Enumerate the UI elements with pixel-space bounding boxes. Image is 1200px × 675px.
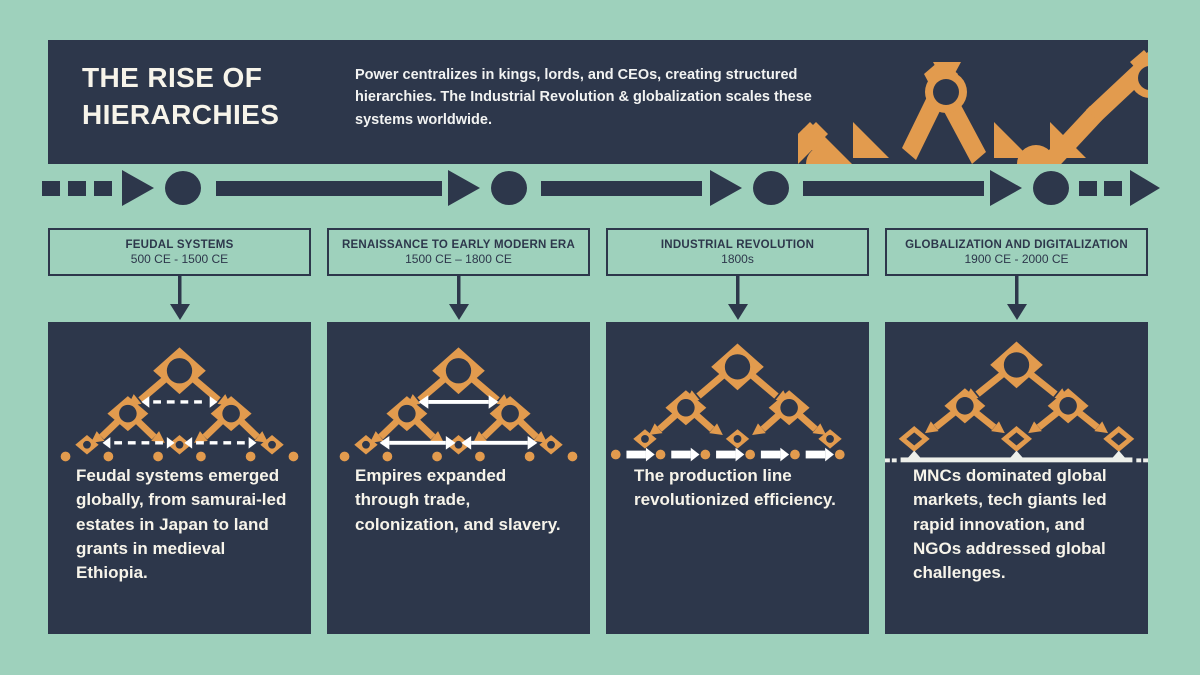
era-card-description: The production line revolutionized effic… [634, 464, 847, 513]
era-card-industrial-revolution[interactable]: The production line revolutionized effic… [606, 322, 869, 634]
page-title-line-2: HIERARCHIES [82, 97, 362, 134]
era-card-renaissance-to-early-modern-era[interactable]: Empires expanded through trade, coloniza… [327, 322, 590, 634]
progress-arrow-strip [40, 168, 1160, 208]
era-name: INDUSTRIAL REVOLUTION [661, 238, 814, 252]
header-banner: THE RISE OF HIERARCHIES Power centralize… [48, 40, 1148, 164]
era-box-feudal-systems[interactable]: FEUDAL SYSTEMS 500 CE - 1500 CE [48, 228, 311, 276]
era-card-description: Empires expanded through trade, coloniza… [355, 464, 568, 537]
hierarchy-tree-dashed-arrows-icon [48, 334, 311, 464]
page-title: THE RISE OF HIERARCHIES [82, 60, 362, 134]
era-name: FEUDAL SYSTEMS [125, 238, 233, 252]
connector-cell-1 [48, 276, 311, 322]
connector-cell-4 [885, 276, 1148, 322]
infographic-canvas: THE RISE OF HIERARCHIES Power centralize… [0, 0, 1200, 675]
era-box-globalization-and-digitalization[interactable]: GLOBALIZATION AND DIGITALIZATION 1900 CE… [885, 228, 1148, 276]
hierarchy-tree-network-baseline-icon [885, 334, 1148, 464]
down-arrow-icon [1004, 276, 1030, 322]
era-box-industrial-revolution[interactable]: INDUSTRIAL REVOLUTION 1800s [606, 228, 869, 276]
era-card-globalization-and-digitalization[interactable]: MNCs dominated global markets, tech gian… [885, 322, 1148, 634]
hierarchy-tree-solid-arrows-icon [327, 334, 590, 464]
era-range: 1500 CE – 1800 CE [405, 252, 512, 268]
down-arrow-icon [725, 276, 751, 322]
era-card-row: Feudal systems emerged globally, from sa… [48, 322, 1148, 634]
hierarchy-tree-production-line-icon [606, 334, 869, 464]
era-range: 1800s [721, 252, 754, 268]
connector-cell-2 [327, 276, 590, 322]
era-box-renaissance-to-early-modern-era[interactable]: RENAISSANCE TO EARLY MODERN ERA 1500 CE … [327, 228, 590, 276]
down-arrow-icon [446, 276, 472, 322]
era-name: GLOBALIZATION AND DIGITALIZATION [905, 238, 1128, 252]
page-title-line-1: THE RISE OF [82, 60, 362, 97]
connector-row [48, 276, 1148, 322]
era-card-feudal-systems[interactable]: Feudal systems emerged globally, from sa… [48, 322, 311, 634]
era-range: 1900 CE - 2000 CE [964, 252, 1068, 268]
zigzag-mountain-pattern-icon [798, 40, 1148, 164]
era-name: RENAISSANCE TO EARLY MODERN ERA [342, 238, 575, 252]
header-description: Power centralizes in kings, lords, and C… [355, 64, 825, 131]
connector-cell-3 [606, 276, 869, 322]
era-card-description: Feudal systems emerged globally, from sa… [76, 464, 289, 585]
era-header-row: FEUDAL SYSTEMS 500 CE - 1500 CE RENAISSA… [48, 228, 1148, 276]
era-card-description: MNCs dominated global markets, tech gian… [913, 464, 1126, 585]
era-range: 500 CE - 1500 CE [131, 252, 228, 268]
down-arrow-icon [167, 276, 193, 322]
